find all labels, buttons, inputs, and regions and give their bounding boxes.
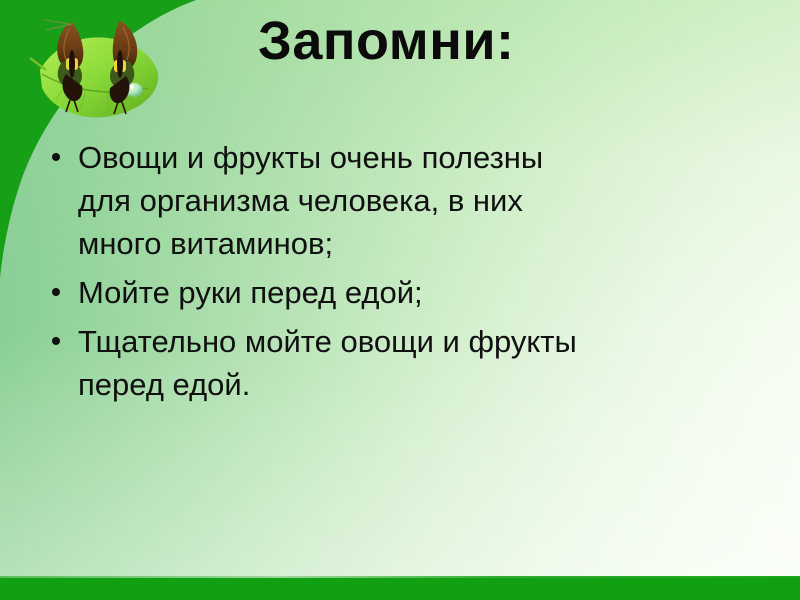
bullet-dot-icon bbox=[52, 337, 60, 345]
slide-title: Запомни: bbox=[258, 10, 778, 72]
leaf-butterflies-image bbox=[26, 18, 168, 130]
bullet-dot-icon bbox=[52, 153, 60, 161]
bullet-text: Тщательно мойте овощи и фрукты перед едо… bbox=[78, 320, 598, 406]
bullet-item: Овощи и фрукты очень полезны для организ… bbox=[48, 136, 748, 265]
slide-bullet-list: Овощи и фрукты очень полезны для организ… bbox=[48, 136, 748, 412]
bullet-item: Тщательно мойте овощи и фрукты перед едо… bbox=[48, 320, 748, 406]
leaf-shape bbox=[30, 37, 158, 117]
bullet-text: Мойте руки перед едой; bbox=[78, 271, 598, 314]
bullet-text: Овощи и фрукты очень полезны для организ… bbox=[78, 136, 598, 265]
bottom-green-bar bbox=[0, 578, 800, 600]
bullet-item: Мойте руки перед едой; bbox=[48, 271, 748, 314]
slide: Запомни: Овощи и фрукты очень полезны дл… bbox=[0, 0, 800, 600]
bullet-dot-icon bbox=[52, 288, 60, 296]
